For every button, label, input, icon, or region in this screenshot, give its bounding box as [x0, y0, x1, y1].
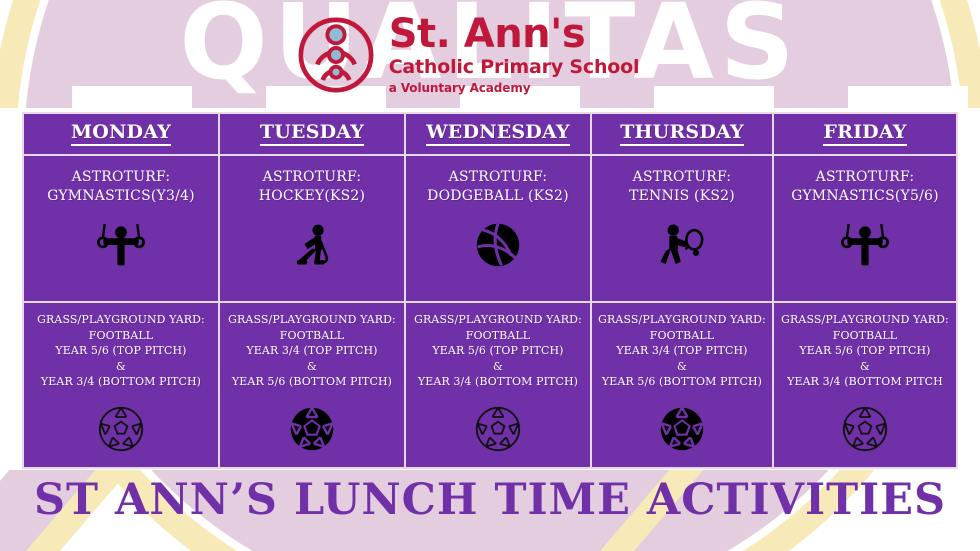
grass-line1: GRASS/PLAYGROUND YARD:: [781, 312, 949, 328]
astroturf-line2: GYMNASTICS(Y3/4): [47, 187, 195, 206]
grass-line3: YEAR 3/4 (TOP PITCH): [228, 343, 396, 359]
grass-line4: &: [37, 359, 205, 375]
grass-cell-wednesday: GRASS/PLAYGROUND YARD: FOOTBALL YEAR 5/6…: [406, 303, 592, 467]
grass-line5: YEAR 5/6 (BOTTOM PITCH): [228, 374, 396, 390]
astroturf-cell-friday: ASTROTURF: GYMNASTICS(Y5/6): [774, 156, 956, 301]
grass-line2: FOOTBALL: [228, 328, 396, 344]
grass-line1: GRASS/PLAYGROUND YARD:: [228, 312, 396, 328]
astroturf-cell-wednesday: ASTROTURF: DODGEBALL (KS2): [406, 156, 592, 301]
astroturf-line1: ASTROTURF:: [47, 168, 195, 187]
grass-line2: FOOTBALL: [37, 328, 205, 344]
school-type: Catholic Primary School: [389, 57, 640, 79]
astroturf-text: ASTROTURF: GYMNASTICS(Y5/6): [791, 168, 939, 206]
astroturf-line2: TENNIS (KS2): [629, 187, 735, 206]
football-solid-icon: [288, 400, 336, 458]
school-academy-status: a Voluntary Academy: [389, 82, 640, 96]
grass-line2: FOOTBALL: [598, 328, 766, 344]
timetable-header-row: MONDAY TUESDAY WEDNESDAY THURSDAY FRIDAY: [24, 114, 956, 156]
gymnastics-rings-icon: [92, 218, 150, 272]
grass-cell-tuesday: GRASS/PLAYGROUND YARD: FOOTBALL YEAR 3/4…: [220, 303, 406, 467]
astroturf-line1: ASTROTURF:: [259, 168, 365, 187]
astroturf-activity-row: ASTROTURF: GYMNASTICS(Y3/4): [24, 156, 956, 301]
astroturf-line1: ASTROTURF:: [629, 168, 735, 187]
astroturf-cell-tuesday: ASTROTURF: HOCKEY(KS2): [220, 156, 406, 301]
football-outline-icon: [97, 400, 145, 458]
grass-line5: YEAR 3/4 (BOTTOM PITCH: [781, 374, 949, 390]
astroturf-text: ASTROTURF: GYMNASTICS(Y3/4): [47, 168, 195, 206]
grass-playground-row: GRASS/PLAYGROUND YARD: FOOTBALL YEAR 5/6…: [24, 301, 956, 467]
grass-line4: &: [598, 359, 766, 375]
astroturf-line2: HOCKEY(KS2): [259, 187, 365, 206]
astroturf-line1: ASTROTURF:: [427, 168, 569, 187]
grass-line5: YEAR 3/4 (BOTTOM PITCH): [37, 374, 205, 390]
st-anns-family-circle-logo-icon: [297, 16, 375, 94]
grass-line5: YEAR 3/4 (BOTTOM PITCH): [414, 374, 582, 390]
logo-text-block: St. Ann's Catholic Primary School a Volu…: [389, 14, 640, 96]
astroturf-cell-thursday: ASTROTURF: TENNIS (KS2): [592, 156, 774, 301]
hockey-player-icon: [286, 218, 338, 272]
astroturf-text: ASTROTURF: HOCKEY(KS2): [259, 168, 365, 206]
day-label: THURSDAY: [620, 122, 744, 146]
grass-cell-friday: GRASS/PLAYGROUND YARD: FOOTBALL YEAR 5/6…: [774, 303, 956, 467]
grass-line1: GRASS/PLAYGROUND YARD:: [598, 312, 766, 328]
grass-text: GRASS/PLAYGROUND YARD: FOOTBALL YEAR 3/4…: [228, 312, 396, 390]
day-header-cell-friday: FRIDAY: [774, 114, 956, 154]
astroturf-text: ASTROTURF: TENNIS (KS2): [629, 168, 735, 206]
football-solid-icon: [658, 400, 706, 458]
logo-wrap: St. Ann's Catholic Primary School a Volu…: [297, 14, 640, 96]
grass-line3: YEAR 5/6 (TOP PITCH): [414, 343, 582, 359]
school-logo-header: St. Ann's Catholic Primary School a Volu…: [0, 0, 980, 110]
astroturf-cell-monday: ASTROTURF: GYMNASTICS(Y3/4): [24, 156, 220, 301]
grass-line3: YEAR 5/6 (TOP PITCH): [37, 343, 205, 359]
grass-text: GRASS/PLAYGROUND YARD: FOOTBALL YEAR 3/4…: [598, 312, 766, 390]
football-outline-icon: [841, 400, 889, 458]
grass-line4: &: [228, 359, 396, 375]
day-header-cell-monday: MONDAY: [24, 114, 220, 154]
astroturf-line2: GYMNASTICS(Y5/6): [791, 187, 939, 206]
day-header-cell-thursday: THURSDAY: [592, 114, 774, 154]
day-label: MONDAY: [71, 122, 171, 146]
gymnastics-rings-icon: [836, 218, 894, 272]
grass-line4: &: [781, 359, 949, 375]
grass-line1: GRASS/PLAYGROUND YARD:: [37, 312, 205, 328]
astroturf-text: ASTROTURF: DODGEBALL (KS2): [427, 168, 569, 206]
football-outline-icon: [474, 400, 522, 458]
poster-title: ST ANN’S LUNCH TIME ACTIVITIES: [0, 470, 980, 530]
grass-text: GRASS/PLAYGROUND YARD: FOOTBALL YEAR 5/6…: [781, 312, 949, 390]
day-label: TUESDAY: [260, 122, 364, 146]
lunch-timetable: MONDAY TUESDAY WEDNESDAY THURSDAY FRIDAY…: [22, 112, 958, 469]
grass-line3: YEAR 5/6 (TOP PITCH): [781, 343, 949, 359]
astroturf-line2: DODGEBALL (KS2): [427, 187, 569, 206]
day-label: FRIDAY: [823, 122, 906, 146]
grass-cell-thursday: GRASS/PLAYGROUND YARD: FOOTBALL YEAR 3/4…: [592, 303, 774, 467]
volleyball-icon: [475, 218, 521, 272]
day-header-cell-wednesday: WEDNESDAY: [406, 114, 592, 154]
day-header-cell-tuesday: TUESDAY: [220, 114, 406, 154]
astroturf-line1: ASTROTURF:: [791, 168, 939, 187]
grass-line3: YEAR 3/4 (TOP PITCH): [598, 343, 766, 359]
grass-line1: GRASS/PLAYGROUND YARD:: [414, 312, 582, 328]
grass-cell-monday: GRASS/PLAYGROUND YARD: FOOTBALL YEAR 5/6…: [24, 303, 220, 467]
day-label: WEDNESDAY: [426, 122, 570, 146]
grass-line4: &: [414, 359, 582, 375]
grass-text: GRASS/PLAYGROUND YARD: FOOTBALL YEAR 5/6…: [37, 312, 205, 390]
tennis-player-icon: [654, 218, 710, 272]
grass-text: GRASS/PLAYGROUND YARD: FOOTBALL YEAR 5/6…: [414, 312, 582, 390]
grass-line2: FOOTBALL: [781, 328, 949, 344]
grass-line2: FOOTBALL: [414, 328, 582, 344]
grass-line5: YEAR 5/6 (BOTTOM PITCH): [598, 374, 766, 390]
school-name: St. Ann's: [389, 14, 640, 54]
